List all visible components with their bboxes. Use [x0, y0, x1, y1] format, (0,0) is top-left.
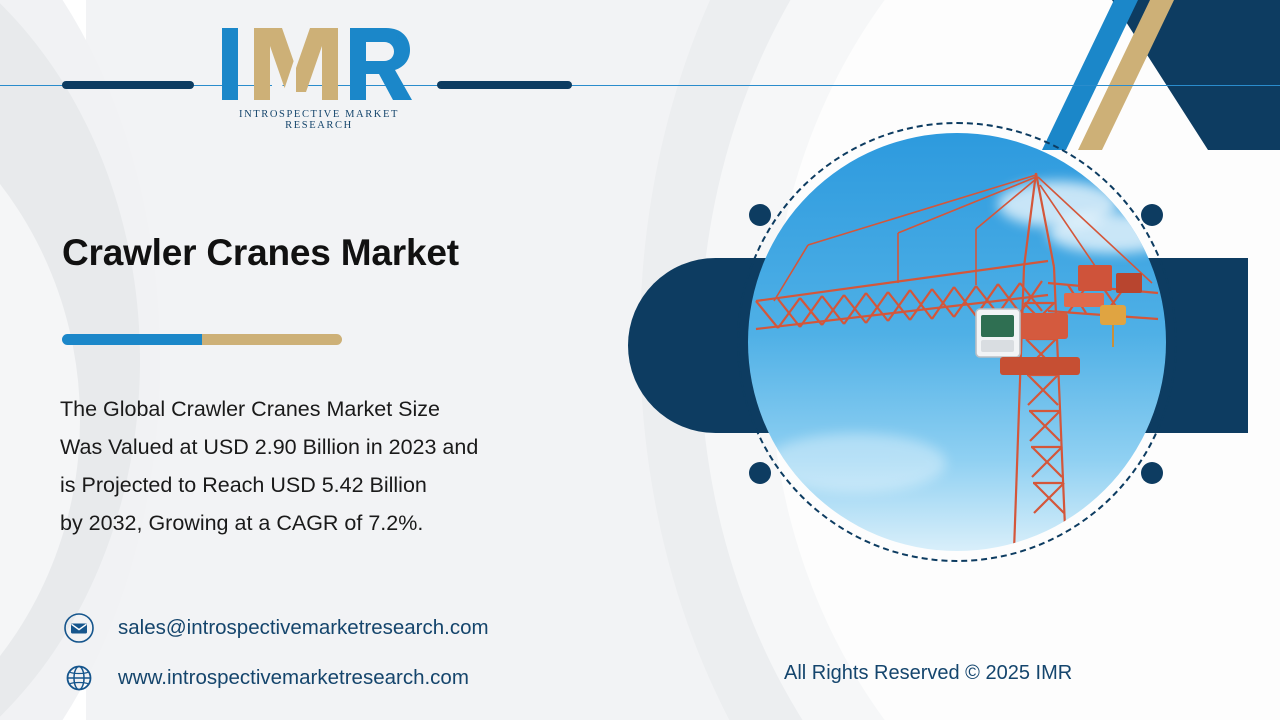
registered-trademark-symbol: ® — [396, 32, 404, 44]
envelope-icon — [62, 611, 96, 645]
header-divider-right-accent — [437, 81, 572, 89]
brand-tagline: INTROSPECTIVE MARKET RESEARCH — [214, 109, 424, 131]
logo-mark: ® — [214, 24, 424, 104]
report-description: The Global Crawler Cranes Market Size Wa… — [60, 390, 660, 542]
report-cover: ® INTROSPECTIVE MARKET RESEARCH Crawler … — [0, 0, 1280, 720]
description-line-3: is Projected to Reach USD 5.42 Billion — [60, 466, 660, 504]
description-line-1: The Global Crawler Cranes Market Size — [60, 390, 660, 428]
header-divider-left-accent — [62, 81, 194, 89]
hero-photo-crane — [748, 133, 1166, 551]
contact-website-row[interactable]: www.introspectivemarketresearch.com — [62, 653, 489, 703]
accent-bar — [62, 334, 342, 345]
accent-bar-tan-segment — [202, 334, 342, 345]
contact-block: sales@introspectivemarketresearch.com ww… — [62, 603, 489, 703]
operator-cab — [976, 309, 1020, 357]
description-line-2: Was Valued at USD 2.90 Billion in 2023 a… — [60, 428, 660, 466]
accent-bar-blue-segment — [62, 334, 202, 345]
brand-logo: ® INTROSPECTIVE MARKET RESEARCH — [214, 24, 424, 131]
description-line-4: by 2032, Growing at a CAGR of 7.2%. — [60, 504, 660, 542]
hero-image-ring — [737, 122, 1177, 562]
contact-website-text[interactable]: www.introspectivemarketresearch.com — [118, 666, 469, 690]
copyright-text: All Rights Reserved © 2025 IMR — [784, 662, 1072, 685]
contact-email-row[interactable]: sales@introspectivemarketresearch.com — [62, 603, 489, 653]
globe-icon — [62, 661, 96, 695]
page-title: Crawler Cranes Market — [62, 232, 459, 274]
crane-illustration — [748, 133, 1166, 551]
contact-email-text[interactable]: sales@introspectivemarketresearch.com — [118, 616, 489, 640]
imr-logo-icon — [214, 24, 424, 104]
